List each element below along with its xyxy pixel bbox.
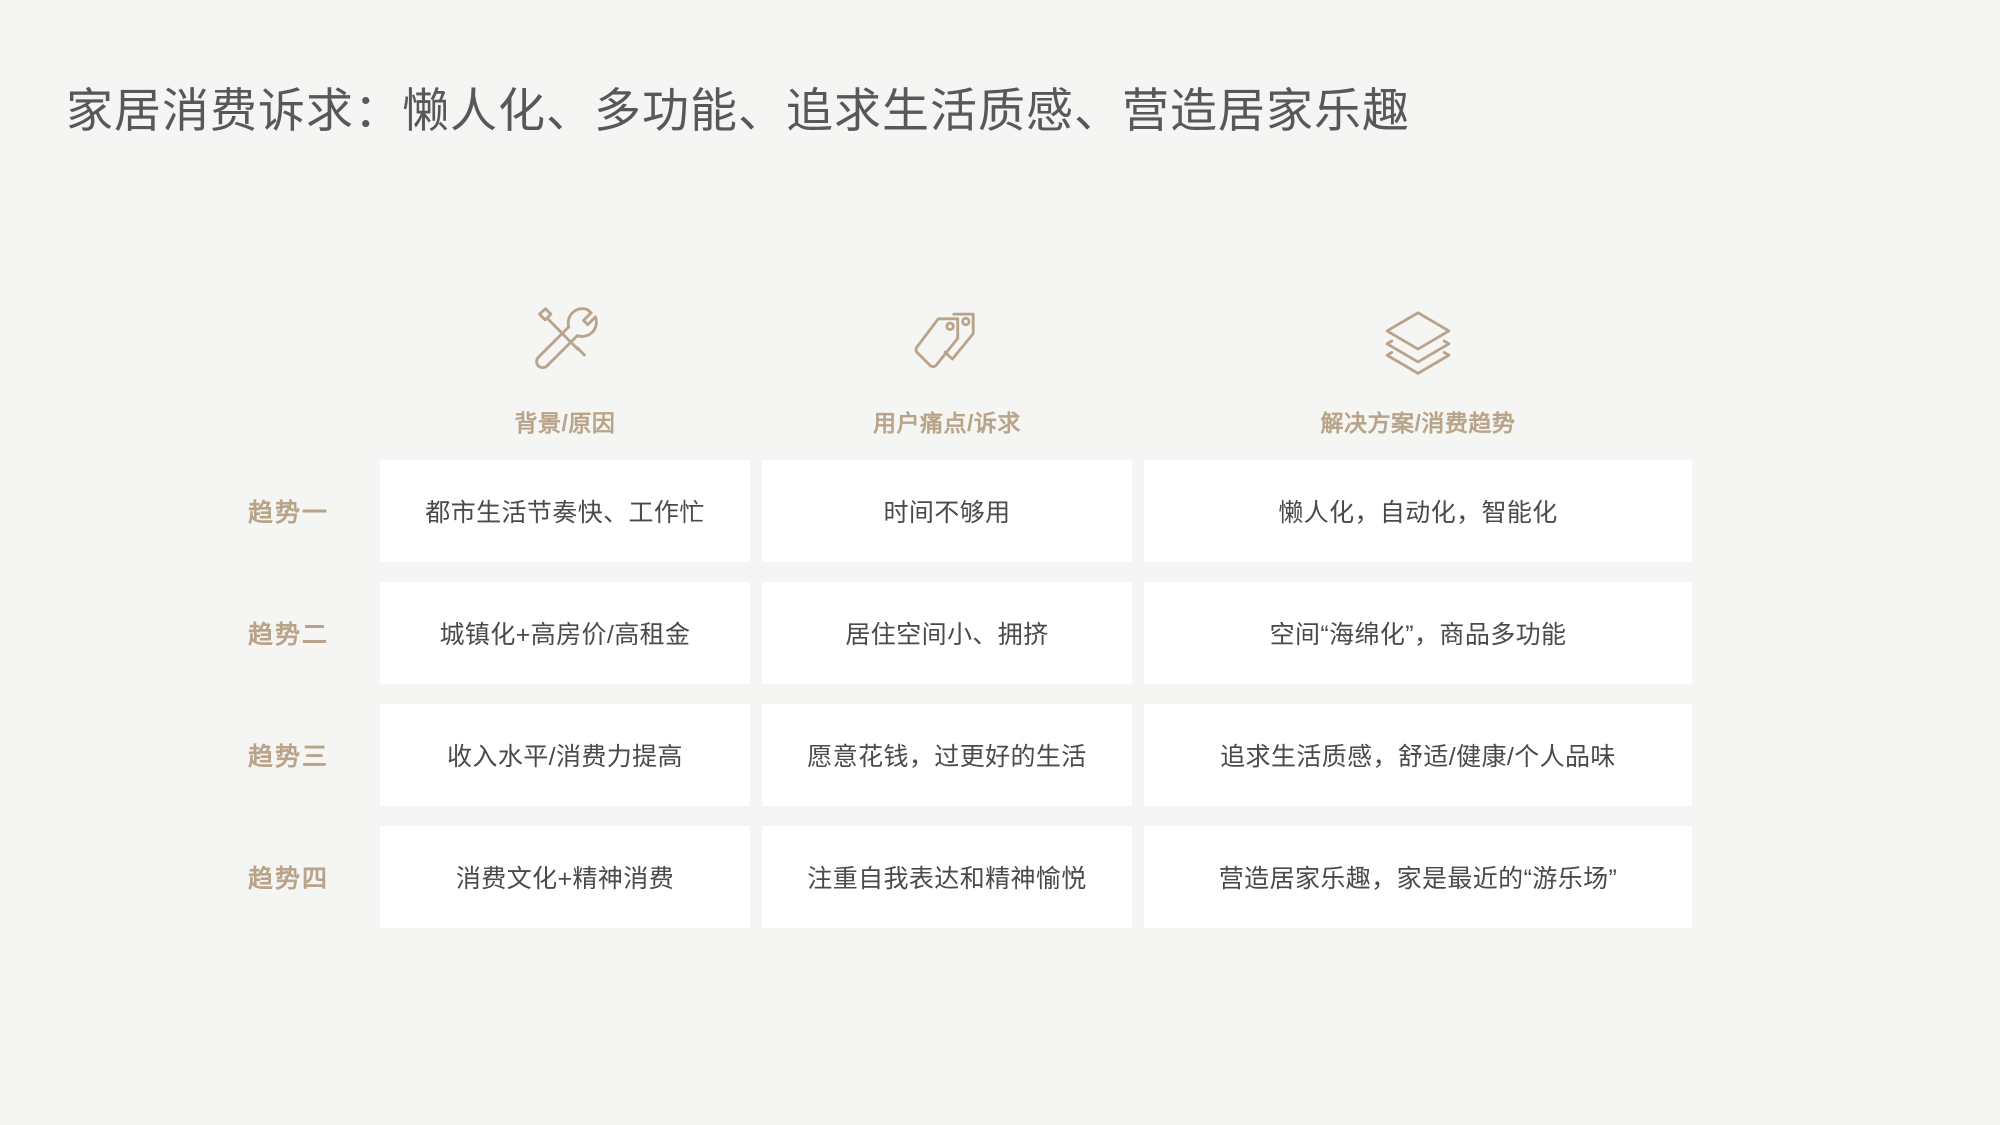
column-header-background-reason: 背景/原因 bbox=[380, 300, 750, 460]
table-cell: 营造居家乐趣，家是最近的“游乐场” bbox=[1144, 826, 1692, 928]
price-tags-icon bbox=[904, 300, 990, 386]
table-row: 趋势二 城镇化+高房价/高租金 居住空间小、拥挤 空间“海绵化”，商品多功能 bbox=[240, 582, 1692, 684]
column-header-label: 背景/原因 bbox=[515, 404, 616, 438]
layers-stack-icon bbox=[1375, 300, 1461, 386]
row-label-trend-1: 趋势一 bbox=[240, 460, 380, 562]
trend-matrix: 背景/原因 用户痛点/诉求 bbox=[240, 300, 1692, 928]
matrix-body: 趋势一 都市生活节奏快、工作忙 时间不够用 懒人化，自动化，智能化 趋势二 城镇… bbox=[240, 460, 1692, 928]
table-cell: 收入水平/消费力提高 bbox=[380, 704, 750, 806]
table-cell: 愿意花钱，过更好的生活 bbox=[762, 704, 1132, 806]
row-label-trend-4: 趋势四 bbox=[240, 826, 380, 928]
column-header-painpoint-demand: 用户痛点/诉求 bbox=[762, 300, 1132, 460]
row-label-trend-2: 趋势二 bbox=[240, 582, 380, 684]
table-row: 趋势三 收入水平/消费力提高 愿意花钱，过更好的生活 追求生活质感，舒适/健康/… bbox=[240, 704, 1692, 806]
row-label-trend-3: 趋势三 bbox=[240, 704, 380, 806]
table-cell: 追求生活质感，舒适/健康/个人品味 bbox=[1144, 704, 1692, 806]
table-cell: 都市生活节奏快、工作忙 bbox=[380, 460, 750, 562]
matrix-header-row: 背景/原因 用户痛点/诉求 bbox=[380, 300, 1692, 460]
table-cell: 时间不够用 bbox=[762, 460, 1132, 562]
table-row: 趋势一 都市生活节奏快、工作忙 时间不够用 懒人化，自动化，智能化 bbox=[240, 460, 1692, 562]
table-cell: 注重自我表达和精神愉悦 bbox=[762, 826, 1132, 928]
table-cell: 消费文化+精神消费 bbox=[380, 826, 750, 928]
table-cell: 空间“海绵化”，商品多功能 bbox=[1144, 582, 1692, 684]
table-cell: 居住空间小、拥挤 bbox=[762, 582, 1132, 684]
table-row: 趋势四 消费文化+精神消费 注重自我表达和精神愉悦 营造居家乐趣，家是最近的“游… bbox=[240, 826, 1692, 928]
column-header-label: 用户痛点/诉求 bbox=[873, 404, 1021, 438]
wrench-screwdriver-icon bbox=[522, 300, 608, 386]
column-header-solution-trend: 解决方案/消费趋势 bbox=[1144, 300, 1692, 460]
slide-canvas: 家居消费诉求：懒人化、多功能、追求生活质感、营造居家乐趣 背景/原因 bbox=[0, 0, 2000, 1125]
column-header-label: 解决方案/消费趋势 bbox=[1321, 404, 1516, 438]
page-title: 家居消费诉求：懒人化、多功能、追求生活质感、营造居家乐趣 bbox=[66, 79, 1410, 142]
table-cell: 懒人化，自动化，智能化 bbox=[1144, 460, 1692, 562]
table-cell: 城镇化+高房价/高租金 bbox=[380, 582, 750, 684]
